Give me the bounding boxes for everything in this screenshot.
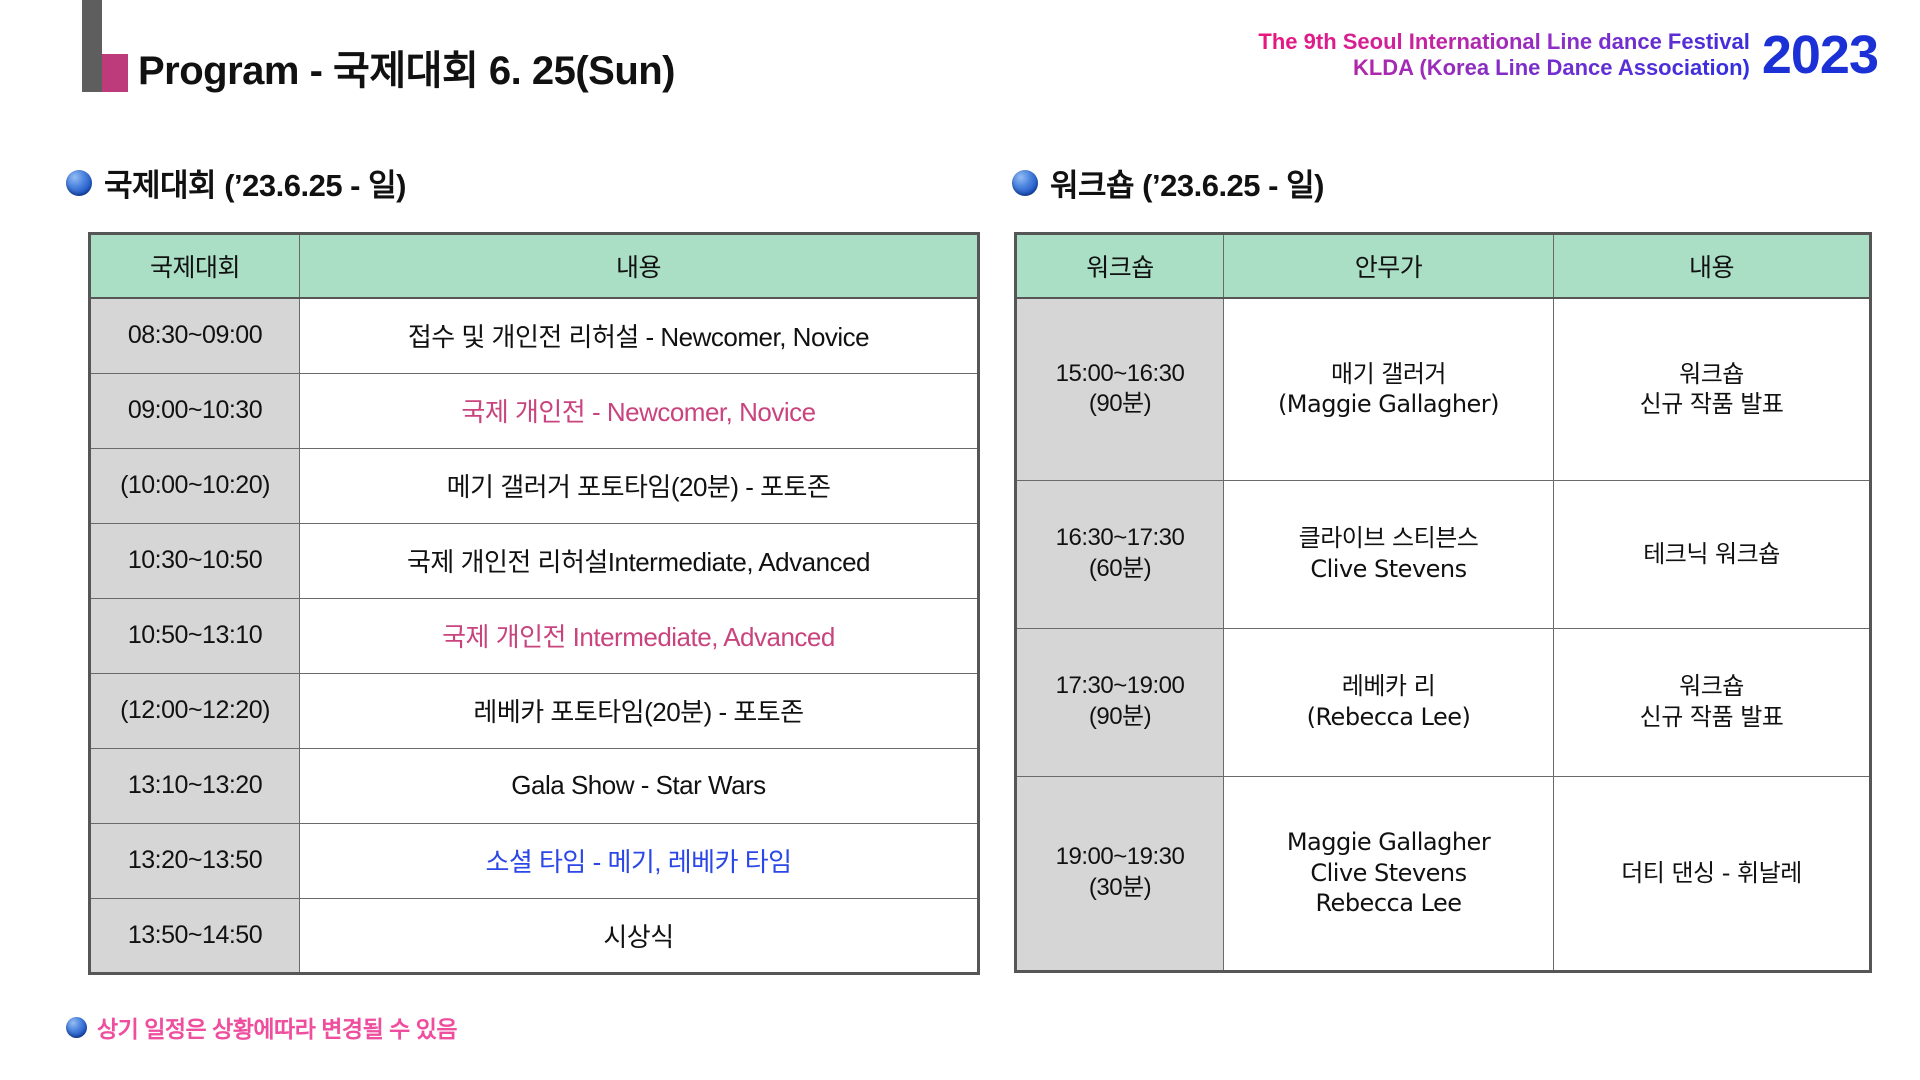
table-header-row: 워크숍 안무가 내용: [1016, 234, 1871, 299]
brand-festival-name: The 9th Seoul International Line dance F…: [1258, 29, 1749, 55]
schedule-time-cell: 08:30~09:00: [90, 298, 300, 373]
brand-association-name: KLDA (Korea Line Dance Association): [1258, 55, 1749, 81]
table-row: 10:30~10:50국제 개인전 리허설Intermediate, Advan…: [90, 523, 979, 598]
brand-year: 2023: [1762, 28, 1878, 82]
footer-note-label: 상기 일정은 상황에따라 변경될 수 있음: [97, 1010, 457, 1044]
table-row: 09:00~10:30국제 개인전 - Newcomer, Novice: [90, 373, 979, 448]
page-title: Program - 국제대회 6. 25(Sun): [138, 38, 675, 96]
schedule-content-cell: 접수 및 개인전 리허설 - Newcomer, Novice: [300, 298, 979, 373]
schedule-content-cell: 국제 개인전 - Newcomer, Novice: [300, 373, 979, 448]
table-row: (12:00~12:20)레베카 포토타임(20분) - 포토존: [90, 673, 979, 748]
schedule-time-cell: (10:00~10:20): [90, 448, 300, 523]
workshop-time-cell: 17:30~19:00 (90분): [1016, 628, 1224, 776]
workshop-schedule-table: 워크숍 안무가 내용 15:00~16:30 (90분)매기 갤러거 (Magg…: [1014, 232, 1872, 973]
schedule-content-cell: 메기 갤러거 포토타임(20분) - 포토존: [300, 448, 979, 523]
section-heading-international-label: 국제대회 (’23.6.25 - 일): [104, 160, 406, 205]
schedule-content-cell: 레베카 포토타임(20분) - 포토존: [300, 673, 979, 748]
column-header-workshop-time: 워크숍: [1016, 234, 1224, 299]
table-row: 13:50~14:50시상식: [90, 898, 979, 973]
table-header-row: 국제대회 내용: [90, 234, 979, 299]
workshop-choreographer-cell: Maggie Gallagher Clive Stevens Rebecca L…: [1224, 776, 1554, 971]
schedule-time-cell: 10:50~13:10: [90, 598, 300, 673]
column-header-choreographer: 안무가: [1224, 234, 1554, 299]
workshop-time-cell: 19:00~19:30 (30분): [1016, 776, 1224, 971]
column-header-content: 내용: [300, 234, 979, 299]
workshop-content-cell: 테크닉 워크숍: [1554, 480, 1871, 628]
workshop-choreographer-cell: 매기 갤러거 (Maggie Gallagher): [1224, 298, 1554, 480]
schedule-time-cell: 10:30~10:50: [90, 523, 300, 598]
schedule-content-cell: 국제 개인전 리허설Intermediate, Advanced: [300, 523, 979, 598]
workshop-time-cell: 15:00~16:30 (90분): [1016, 298, 1224, 480]
table-row: 13:10~13:20Gala Show - Star Wars: [90, 748, 979, 823]
workshop-choreographer-cell: 클라이브 스티븐스 Clive Stevens: [1224, 480, 1554, 628]
schedule-content-cell: 소셜 타임 - 메기, 레베카 타임: [300, 823, 979, 898]
title-accent-bar-gray: [82, 0, 102, 92]
blue-sphere-bullet-icon: [1012, 170, 1038, 196]
international-schedule-table: 국제대회 내용 08:30~09:00접수 및 개인전 리허설 - Newcom…: [88, 232, 980, 975]
schedule-time-cell: 13:20~13:50: [90, 823, 300, 898]
table-row: 13:20~13:50소셜 타임 - 메기, 레베카 타임: [90, 823, 979, 898]
workshop-content-cell: 워크숍 신규 작품 발표: [1554, 628, 1871, 776]
schedule-content-cell: Gala Show - Star Wars: [300, 748, 979, 823]
workshop-content-cell: 더티 댄싱 - 휘날레: [1554, 776, 1871, 971]
schedule-content-cell: 국제 개인전 Intermediate, Advanced: [300, 598, 979, 673]
title-accent-bar-pink: [102, 54, 128, 92]
table-row: 08:30~09:00접수 및 개인전 리허설 - Newcomer, Novi…: [90, 298, 979, 373]
workshop-time-cell: 16:30~17:30 (60분): [1016, 480, 1224, 628]
column-header-time: 국제대회: [90, 234, 300, 299]
section-heading-international: 국제대회 (’23.6.25 - 일): [66, 160, 406, 205]
schedule-time-cell: 09:00~10:30: [90, 373, 300, 448]
blue-sphere-bullet-icon: [66, 1017, 87, 1038]
table-row: 10:50~13:10국제 개인전 Intermediate, Advanced: [90, 598, 979, 673]
schedule-time-cell: 13:50~14:50: [90, 898, 300, 973]
blue-sphere-bullet-icon: [66, 170, 92, 196]
table-row: 15:00~16:30 (90분)매기 갤러거 (Maggie Gallaghe…: [1016, 298, 1871, 480]
workshop-choreographer-cell: 레베카 리 (Rebecca Lee): [1224, 628, 1554, 776]
column-header-content: 내용: [1554, 234, 1871, 299]
footer-note: 상기 일정은 상황에따라 변경될 수 있음: [66, 1010, 457, 1044]
section-heading-workshop: 워크숍 (’23.6.25 - 일): [1012, 160, 1324, 205]
schedule-content-cell: 시상식: [300, 898, 979, 973]
table-row: 17:30~19:00 (90분)레베카 리 (Rebecca Lee)워크숍 …: [1016, 628, 1871, 776]
section-heading-workshop-label: 워크숍 (’23.6.25 - 일): [1050, 160, 1324, 205]
festival-brand: The 9th Seoul International Line dance F…: [1258, 28, 1878, 82]
schedule-time-cell: 13:10~13:20: [90, 748, 300, 823]
schedule-time-cell: (12:00~12:20): [90, 673, 300, 748]
table-row: 16:30~17:30 (60분)클라이브 스티븐스 Clive Stevens…: [1016, 480, 1871, 628]
table-row: (10:00~10:20)메기 갤러거 포토타임(20분) - 포토존: [90, 448, 979, 523]
table-row: 19:00~19:30 (30분)Maggie Gallagher Clive …: [1016, 776, 1871, 971]
workshop-content-cell: 워크숍 신규 작품 발표: [1554, 298, 1871, 480]
brand-text-lines: The 9th Seoul International Line dance F…: [1258, 29, 1749, 81]
